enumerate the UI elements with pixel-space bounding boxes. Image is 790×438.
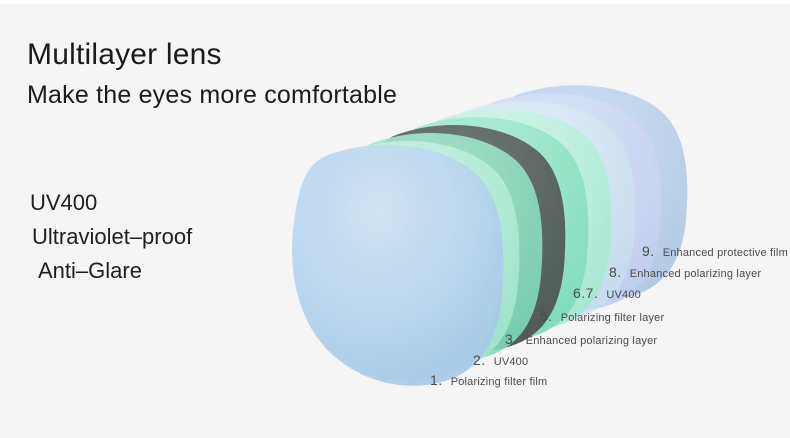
lens-layer-1-front [292,145,503,386]
feature-item-ultraviolet-proof: Ultraviolet–proof [30,220,192,254]
callout-3-number: 3. [505,331,518,347]
callout-5-text: Polarizing filter layer [561,312,665,324]
callout-2-number: 2. [473,352,486,368]
callout-8: 8. Enhanced polarizing layer [609,264,761,280]
callout-8-number: 8. [609,264,622,280]
callout-6-7-number: 6.7. [573,285,598,301]
lens-promo-page: Multilayer lens Make the eyes more comfo… [0,0,790,438]
callout-1-number: 1. [430,372,443,388]
callout-3-text: Enhanced polarizing layer [526,335,658,347]
feature-item-uv400: UV400 [30,186,192,220]
callout-2-text: UV400 [494,356,529,368]
page-title: Multilayer lens [27,36,397,74]
callout-6-7-text: UV400 [606,289,641,301]
page-subtitle: Make the eyes more comfortable [27,78,397,112]
callout-3: 3. Enhanced polarizing layer [505,331,657,347]
callout-8-text: Enhanced polarizing layer [630,268,762,280]
callout-5: 5. Polarizing filter layer [540,308,664,324]
heading-block: Multilayer lens Make the eyes more comfo… [27,36,397,112]
callout-9: 9. Enhanced protective film [642,243,788,259]
callout-5-number: 5. [540,308,553,324]
callout-9-text: Enhanced protective film [663,247,788,259]
feature-list: UV400 Ultraviolet–proof Anti–Glare [30,186,192,288]
callout-1: 1. Polarizing filter film [430,372,547,388]
callout-6-7: 6.7. UV400 [573,285,641,301]
feature-item-anti-glare: Anti–Glare [30,254,192,288]
callout-2: 2. UV400 [473,352,528,368]
callout-1-text: Polarizing filter film [451,376,548,388]
callout-9-number: 9. [642,243,655,259]
